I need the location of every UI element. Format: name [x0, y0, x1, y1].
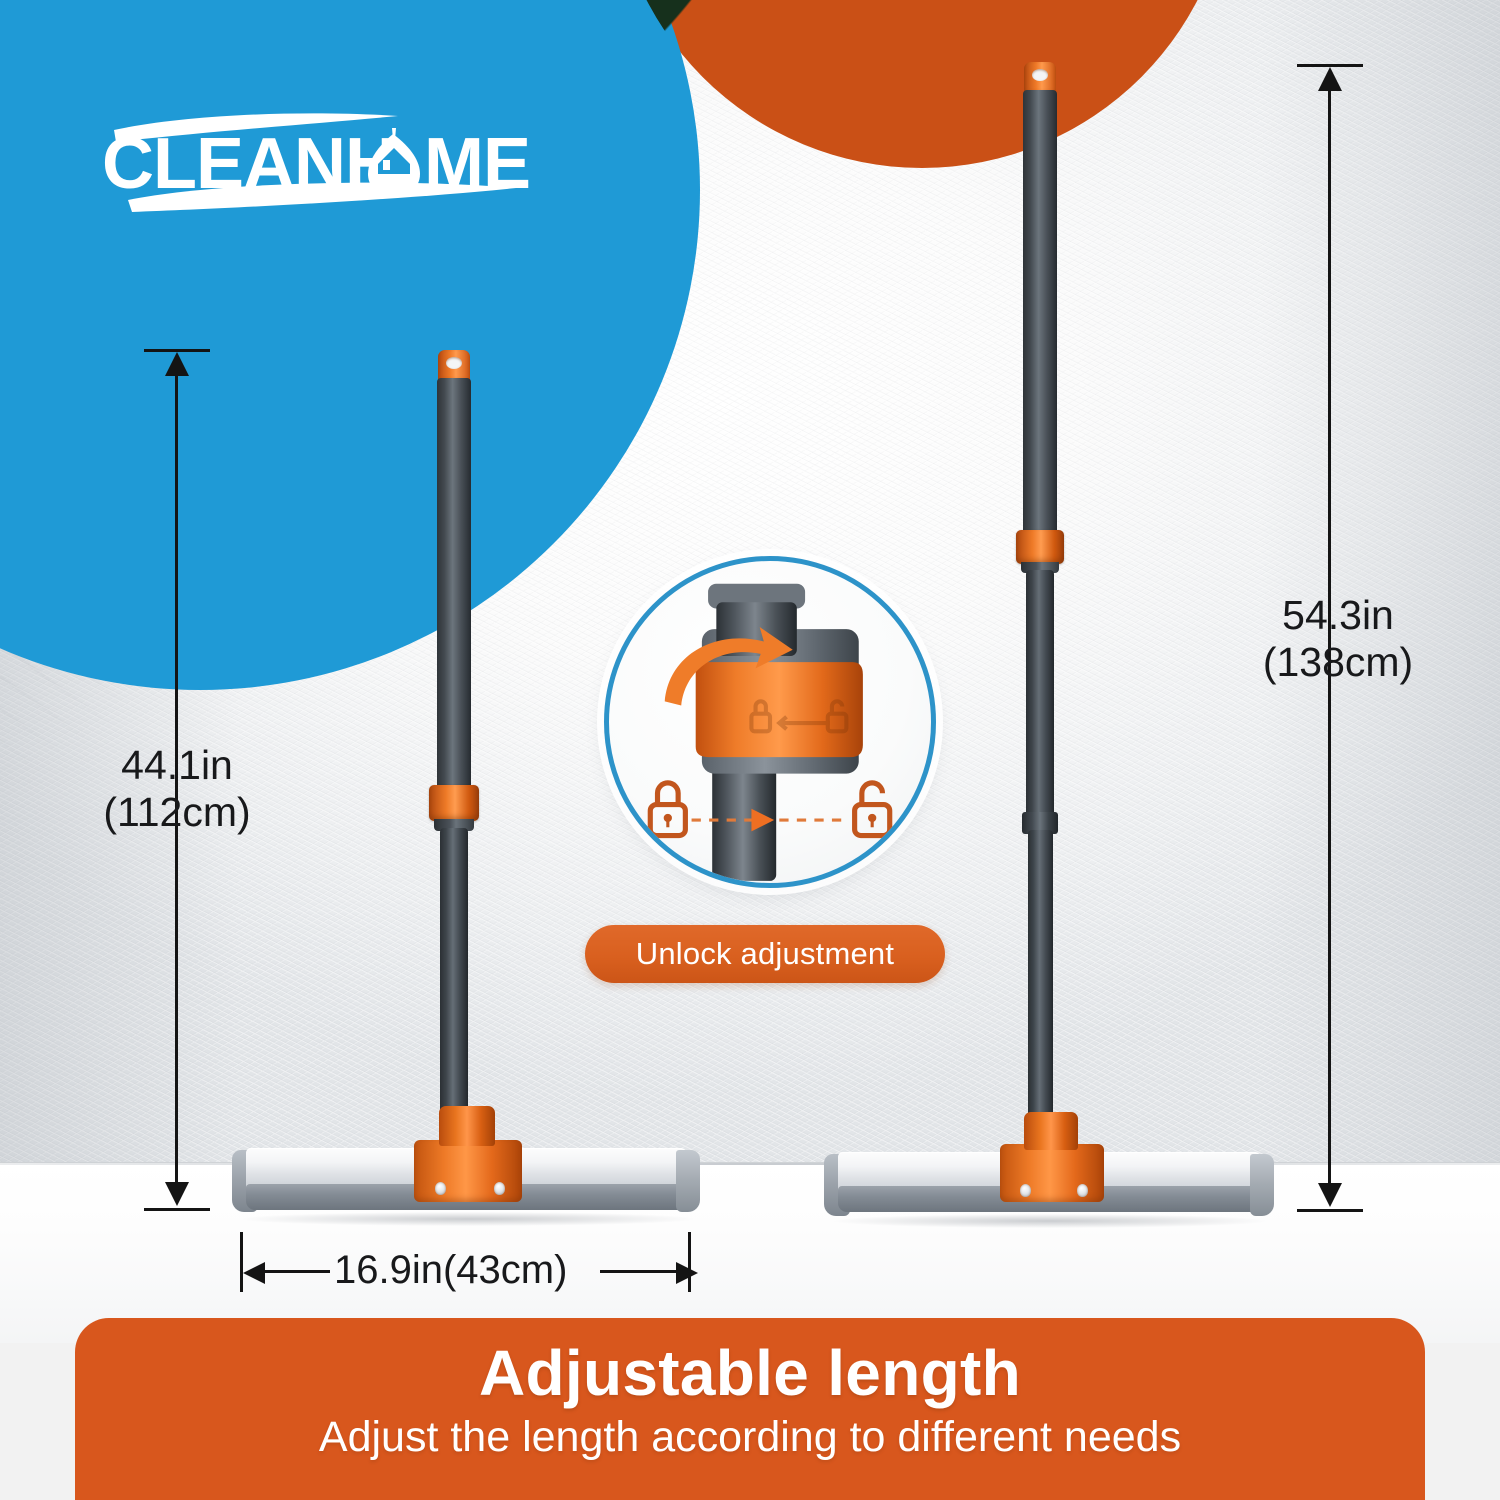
lock-open-icon — [855, 783, 890, 836]
lock-collar-right[interactable] — [1016, 530, 1064, 564]
squeegee-head-right — [824, 1146, 1274, 1224]
orange-lock-collar — [696, 662, 863, 757]
pole-lower-right — [1028, 830, 1053, 1158]
floor-edge-line — [0, 1163, 1500, 1165]
dim-collapsed-metric: (112cm) — [72, 789, 282, 836]
product-infographic: CLEANH ME — [0, 0, 1500, 1500]
svg-text:ME: ME — [424, 124, 530, 204]
bottom-banner: Adjustable length Adjust the length acco… — [75, 1318, 1425, 1500]
banner-subtitle: Adjust the length according to different… — [75, 1414, 1425, 1461]
dim-collapsed-imperial: 44.1in — [72, 742, 282, 789]
pole-upper-right — [1023, 90, 1057, 538]
dim-width-label: 16.9in(43cm) — [334, 1248, 567, 1294]
unlock-adjustment-badge: Unlock adjustment — [585, 925, 945, 983]
floor-surface — [0, 1163, 1500, 1343]
dim-extended-imperial: 54.3in — [1232, 592, 1444, 639]
brand-logo: CLEANH ME — [98, 108, 568, 218]
squeegee-head-left — [232, 1140, 702, 1220]
banner-title: Adjustable length — [75, 1338, 1425, 1408]
svg-text:CLEANH: CLEANH — [102, 124, 396, 204]
pole-mid-right — [1026, 570, 1054, 822]
pole-upper-left — [437, 378, 471, 796]
unlock-adjustment-label: Unlock adjustment — [636, 936, 894, 972]
lock-collar-left[interactable] — [429, 785, 479, 821]
lock-mechanism-inset — [604, 556, 936, 888]
lock-closed-icon — [650, 783, 685, 836]
dim-extended-metric: (138cm) — [1232, 639, 1444, 686]
